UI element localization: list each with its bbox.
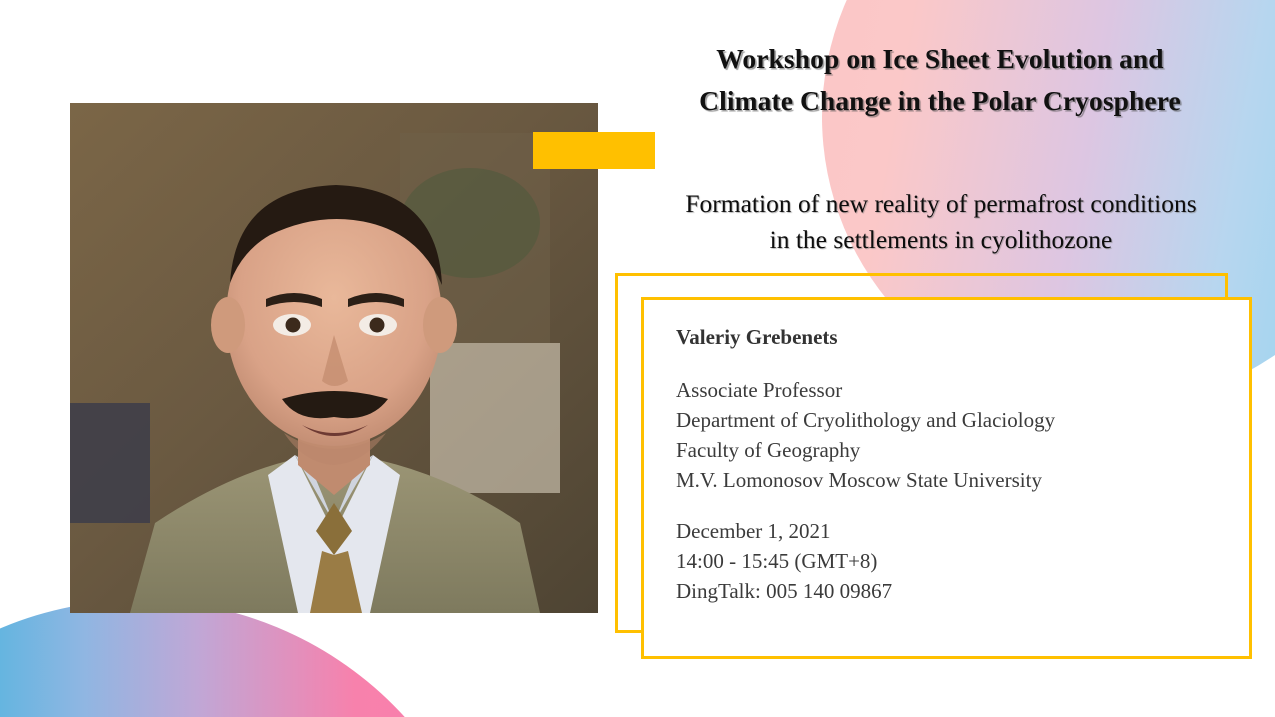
speaker-affiliation: Associate Professor Department of Cryoli… <box>676 376 1236 495</box>
meeting-id: DingTalk: 005 140 09867 <box>676 577 1236 607</box>
gradient-circle-bottom-left <box>0 600 498 717</box>
workshop-title-line-2: Climate Change in the Polar Cryosphere <box>610 80 1270 122</box>
schedule-date: December 1, 2021 <box>676 517 1236 547</box>
talk-subtitle-line-2: in the settlements in cyolithozone <box>608 222 1274 258</box>
speaker-details: Valeriy Grebenets Associate Professor De… <box>676 325 1236 607</box>
workshop-title: Workshop on Ice Sheet Evolution and Clim… <box>610 38 1270 122</box>
talk-subtitle: Formation of new reality of permafrost c… <box>608 186 1274 258</box>
talk-schedule: December 1, 2021 14:00 - 15:45 (GMT+8) D… <box>676 517 1236 606</box>
workshop-title-line-1: Workshop on Ice Sheet Evolution and <box>610 38 1270 80</box>
affiliation-line-4: M.V. Lomonosov Moscow State University <box>676 466 1236 496</box>
speaker-photo <box>70 103 598 613</box>
speaker-portrait-illustration <box>70 103 598 613</box>
affiliation-line-1: Associate Professor <box>676 376 1236 406</box>
schedule-time: 14:00 - 15:45 (GMT+8) <box>676 547 1236 577</box>
affiliation-line-3: Faculty of Geography <box>676 436 1236 466</box>
affiliation-line-2: Department of Cryolithology and Glaciolo… <box>676 406 1236 436</box>
presentation-slide: Workshop on Ice Sheet Evolution and Clim… <box>0 0 1275 717</box>
talk-subtitle-line-1: Formation of new reality of permafrost c… <box>608 186 1274 222</box>
yellow-accent-block <box>533 132 655 169</box>
speaker-name: Valeriy Grebenets <box>676 325 1236 350</box>
